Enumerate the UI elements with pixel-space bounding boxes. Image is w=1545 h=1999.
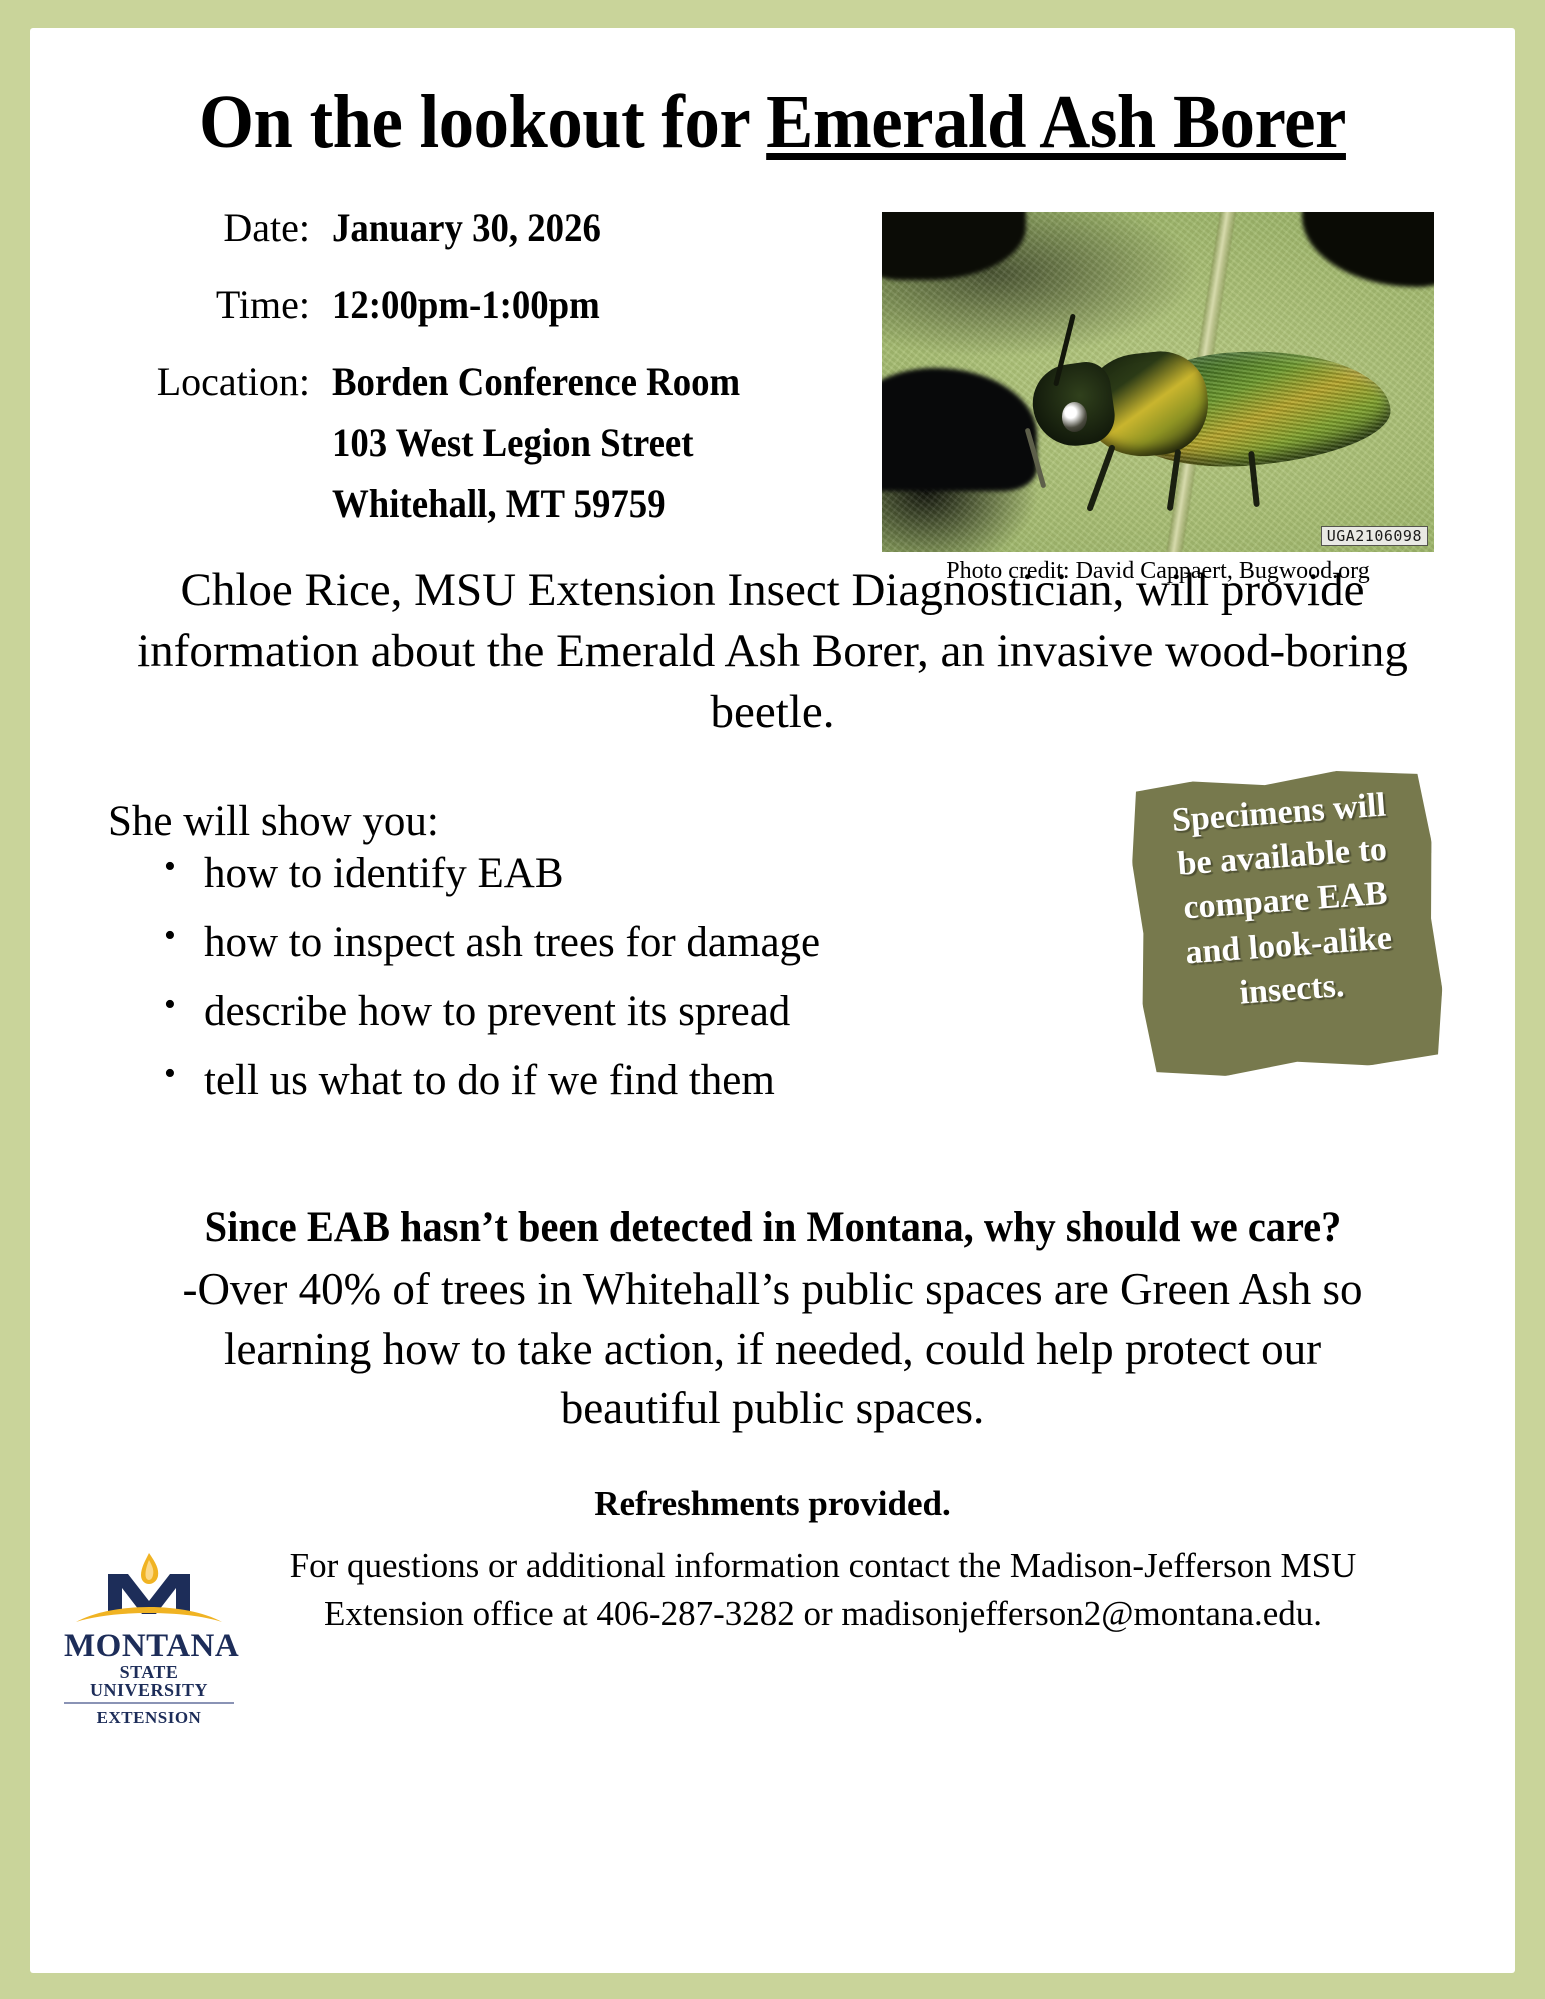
title-emphasis: Emerald Ash Borer [766, 80, 1346, 164]
beetle-photo: UGA2106098 [882, 212, 1434, 552]
date-label: Date: [126, 204, 332, 251]
intro-paragraph: Chloe Rice, MSU Extension Insect Diagnos… [108, 560, 1438, 743]
location-line-2: 103 West Legion Street [332, 419, 740, 466]
detail-row-time: Time: 12:00pm-1:00pm [126, 281, 746, 328]
show-you-section: She will show you: how to identify EAB h… [30, 797, 1515, 1157]
event-details-list: Date: January 30, 2026 Time: 12:00pm-1:0… [126, 204, 746, 557]
time-value: 12:00pm-1:00pm [332, 281, 600, 328]
detail-row-location: Location: Borden Conference Room 103 Wes… [126, 358, 746, 527]
contact-line-2: Extension office at 406-287-3282 or madi… [248, 1590, 1398, 1637]
date-value: January 30, 2026 [332, 204, 601, 251]
logo-swoosh-icon [76, 1607, 222, 1622]
poster-page: On the lookout for Emerald Ash Borer Dat… [0, 0, 1545, 1999]
event-details-section: Date: January 30, 2026 Time: 12:00pm-1:0… [30, 204, 1515, 534]
beetle-photo-block: UGA2106098 Photo credit: David Cappaert,… [882, 212, 1434, 585]
logo-montana-text: MONTANA [64, 1630, 234, 1663]
list-item: tell us what to do if we find them [164, 1059, 1515, 1102]
specimens-badge: Specimens will be available to compare E… [1127, 765, 1448, 1082]
why-care-section: Since EAB hasn’t been detected in Montan… [103, 1203, 1443, 1438]
page-title: On the lookout for Emerald Ash Borer [82, 28, 1463, 160]
location-label: Location: [126, 358, 332, 405]
refreshments-note: Refreshments provided. [30, 1484, 1515, 1524]
location-value: Borden Conference Room 103 West Legion S… [332, 358, 740, 527]
why-care-answer-line-3: beautiful public spaces. [103, 1379, 1443, 1438]
logo-extension-text: EXTENSION [64, 1709, 234, 1726]
msu-m-mark-icon [64, 1550, 234, 1630]
footer-section: MONTANA STATE UNIVERSITY EXTENSION For q… [30, 1542, 1515, 1732]
contact-line-1: For questions or additional information … [248, 1542, 1398, 1589]
beetle-antenna-lower [1024, 427, 1046, 488]
why-care-question: Since EAB hasn’t been detected in Montan… [143, 1203, 1403, 1252]
title-prefix: On the lookout for [199, 80, 766, 164]
photo-credit: Photo credit: David Cappaert, Bugwood.or… [882, 558, 1434, 585]
location-line-3: Whitehall, MT 59759 [332, 480, 740, 527]
poster-sheet: On the lookout for Emerald Ash Borer Dat… [30, 28, 1515, 1973]
msu-extension-logo: MONTANA STATE UNIVERSITY EXTENSION [64, 1550, 234, 1726]
photo-watermark: UGA2106098 [1321, 526, 1428, 547]
time-label: Time: [126, 281, 332, 328]
detail-row-date: Date: January 30, 2026 [126, 204, 746, 251]
location-line-1: Borden Conference Room [332, 358, 740, 405]
beetle-body [1026, 348, 1390, 484]
why-care-answer-line-1: -Over 40% of trees in Whitehall’s public… [103, 1260, 1443, 1319]
why-care-answer-line-2: learning how to take action, if needed, … [103, 1320, 1443, 1379]
logo-state-university-text: STATE UNIVERSITY [64, 1663, 234, 1704]
contact-info: For questions or additional information … [248, 1542, 1398, 1637]
